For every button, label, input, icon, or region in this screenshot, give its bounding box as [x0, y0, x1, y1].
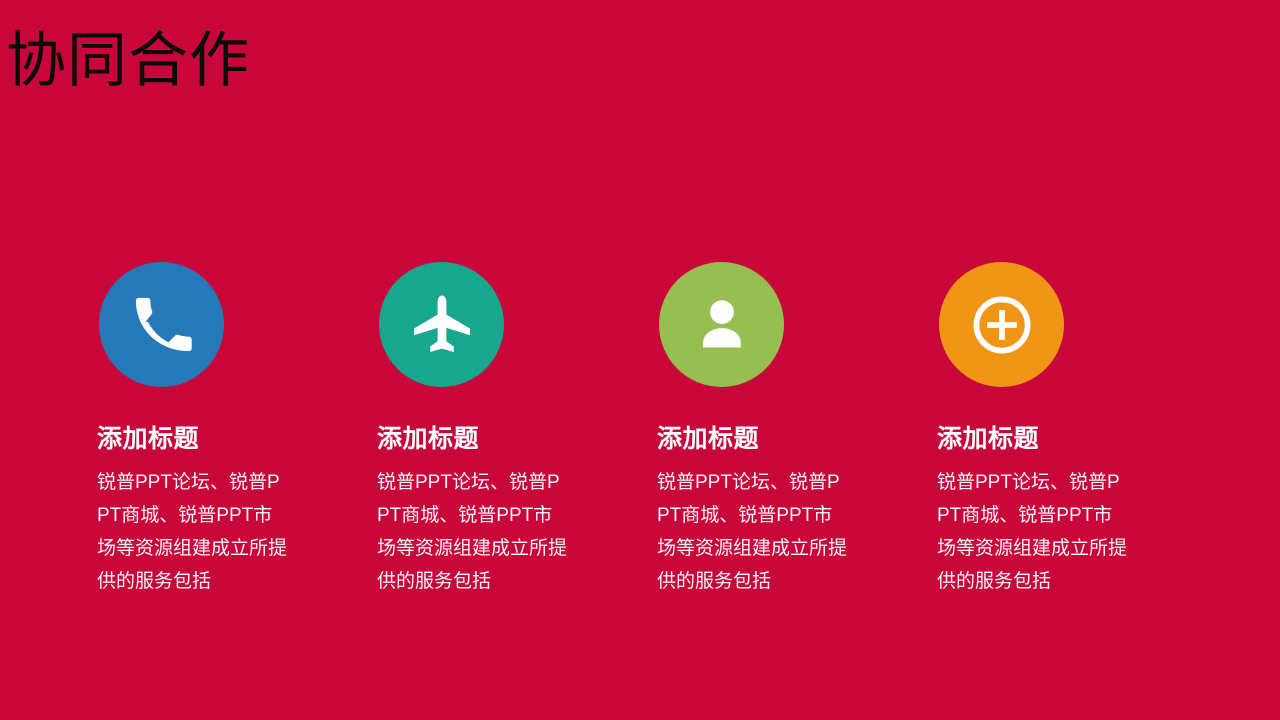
feature-card[interactable]: 添加标题 锐普PPT论坛、锐普PPT商城、锐普PPT市场等资源组建成立所提供的服…: [560, 262, 840, 598]
plus-circle-icon: [969, 292, 1035, 358]
icon-badge-phone[interactable]: [99, 262, 224, 387]
slide-canvas: 协同合作 添加标题 锐普PPT论坛、锐普PPT商城、锐普PPT市场等资源组建成立…: [0, 0, 1280, 720]
card-body: 锐普PPT论坛、锐普PPT商城、锐普PPT市场等资源组建成立所提供的服务包括: [937, 466, 1129, 598]
airplane-icon: [408, 291, 476, 359]
icon-badge-plus[interactable]: [939, 262, 1064, 387]
feature-columns: 添加标题 锐普PPT论坛、锐普PPT商城、锐普PPT市场等资源组建成立所提供的服…: [0, 262, 1280, 598]
feature-card[interactable]: 添加标题 锐普PPT论坛、锐普PPT商城、锐普PPT市场等资源组建成立所提供的服…: [0, 262, 280, 598]
card-title: 添加标题: [657, 424, 759, 454]
feature-card[interactable]: 添加标题 锐普PPT论坛、锐普PPT商城、锐普PPT市场等资源组建成立所提供的服…: [280, 262, 560, 598]
phone-icon: [131, 294, 193, 356]
card-title: 添加标题: [97, 424, 199, 454]
feature-card[interactable]: 添加标题 锐普PPT论坛、锐普PPT商城、锐普PPT市场等资源组建成立所提供的服…: [840, 262, 1120, 598]
icon-badge-airplane[interactable]: [379, 262, 504, 387]
card-body: 锐普PPT论坛、锐普PPT商城、锐普PPT市场等资源组建成立所提供的服务包括: [97, 466, 289, 598]
page-title: 协同合作: [6, 24, 250, 98]
card-body: 锐普PPT论坛、锐普PPT商城、锐普PPT市场等资源组建成立所提供的服务包括: [377, 466, 569, 598]
card-title: 添加标题: [377, 424, 479, 454]
card-title: 添加标题: [937, 424, 1039, 454]
card-body: 锐普PPT论坛、锐普PPT商城、锐普PPT市场等资源组建成立所提供的服务包括: [657, 466, 849, 598]
user-icon: [691, 294, 753, 356]
icon-badge-user[interactable]: [659, 262, 784, 387]
